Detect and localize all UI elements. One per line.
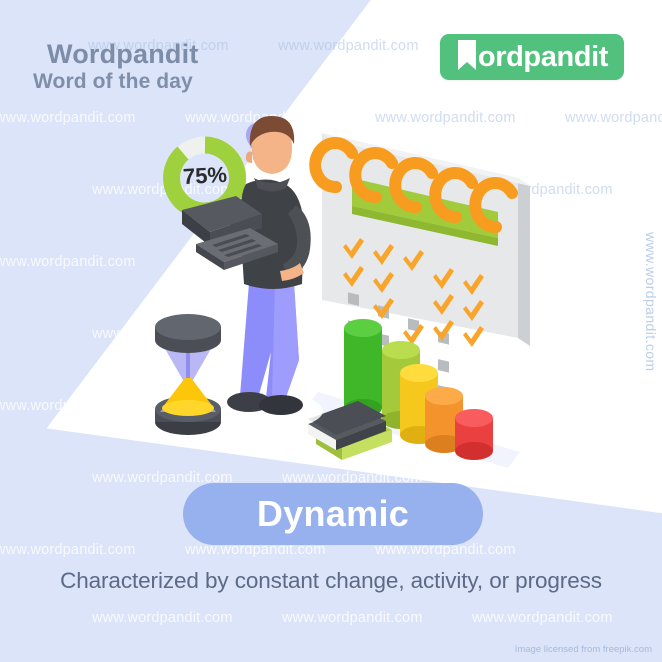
hourglass bbox=[144, 314, 232, 445]
bar-5 bbox=[455, 409, 493, 460]
image-credit: Image licensed from freepik.com bbox=[515, 644, 652, 655]
word-of-the-day-card: www.wordpandit.com www.wordpandit.com ww… bbox=[0, 0, 662, 662]
word-term: Dynamic bbox=[257, 493, 409, 535]
logo-text: ordpandit bbox=[478, 43, 608, 72]
progress-ring-label: 75% bbox=[172, 161, 237, 190]
page-subtitle: Word of the day bbox=[33, 70, 193, 94]
isometric-illustration bbox=[0, 0, 662, 662]
page-title: Wordpandit bbox=[47, 39, 198, 70]
bar-1 bbox=[344, 319, 382, 417]
wordpandit-logo[interactable]: ordpandit bbox=[440, 34, 624, 80]
word-pill: Dynamic bbox=[183, 483, 483, 545]
word-definition: Characterized by constant change, activi… bbox=[0, 568, 662, 594]
bookmark-icon bbox=[454, 40, 480, 74]
